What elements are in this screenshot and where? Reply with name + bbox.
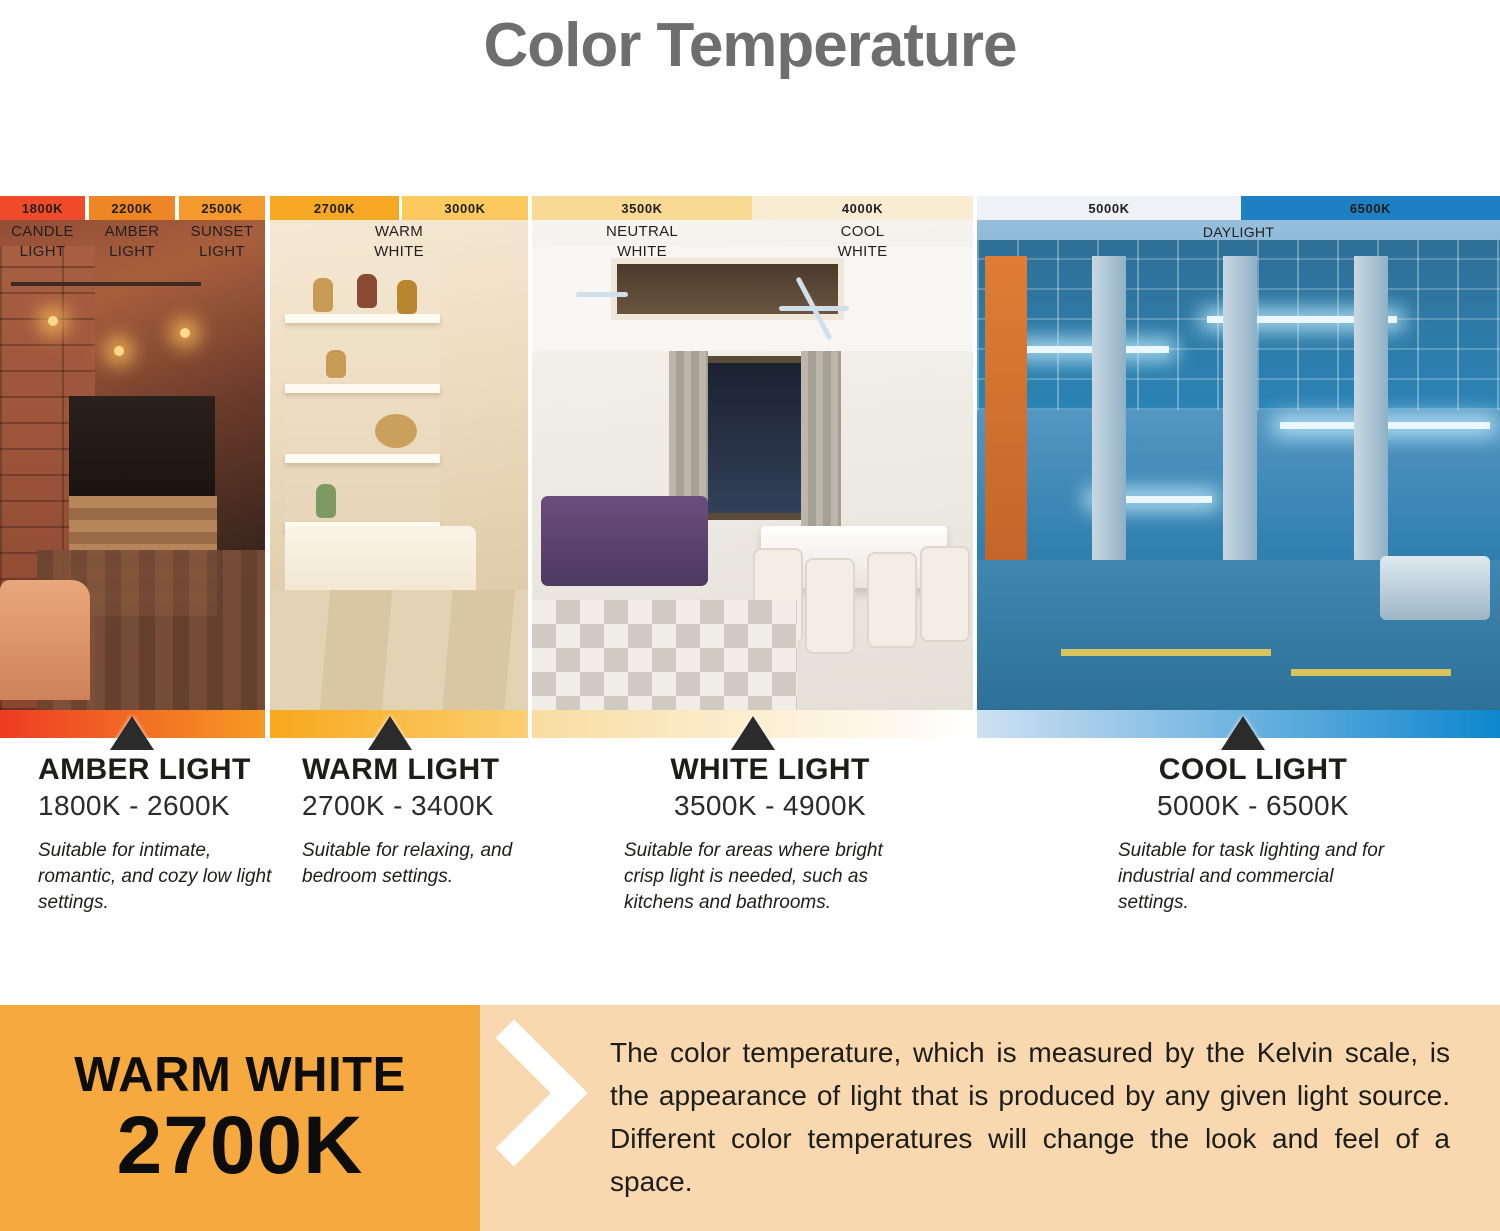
legend-name: WARM LIGHT <box>302 752 532 788</box>
kelvin-name: DAYLIGHT <box>977 222 1500 242</box>
pointer-arrow-cool <box>1221 716 1265 750</box>
kelvin-names-white: NEUTRALWHITE COOLWHITE <box>532 222 973 262</box>
kelvin-cell: 3000K <box>402 196 528 220</box>
kelvin-cell: 3500K <box>532 196 752 220</box>
page-title: Color Temperature <box>0 0 1500 90</box>
kelvin-header-white: 3500K 4000K <box>532 196 973 220</box>
legend: AMBER LIGHT 1800K - 2600K Suitable for i… <box>0 752 1500 942</box>
kelvin-names-daylight: DAYLIGHT <box>977 222 1500 242</box>
banner-kelvin: 2700K <box>117 1103 364 1189</box>
panel-white-photo <box>532 196 973 710</box>
panel-warm[interactable]: 2700K 3000K WARMWHITE <box>270 196 528 710</box>
pointer-arrow-white <box>731 716 775 750</box>
panel-amber-photo <box>0 196 265 710</box>
kelvin-names-warm: WARMWHITE <box>270 222 528 262</box>
kelvin-name: CANDLELIGHT <box>0 222 85 262</box>
kelvin-cell: 6500K <box>1241 196 1500 220</box>
legend-name: AMBER LIGHT <box>38 752 278 788</box>
legend-desc: Suitable for relaxing, and bedroom setti… <box>302 838 532 890</box>
legend-range: 2700K - 3400K <box>302 788 532 824</box>
kelvin-name: AMBERLIGHT <box>89 222 175 262</box>
kelvin-cell: 1800K <box>0 196 85 220</box>
kelvin-name: NEUTRALWHITE <box>532 222 752 262</box>
panel-daylight-photo <box>977 196 1500 710</box>
panel-amber[interactable]: 1800K 2200K 2500K CANDLELIGHT AMBERLIGHT… <box>0 196 265 710</box>
legend-item-cool[interactable]: COOL LIGHT 5000K - 6500K Suitable for ta… <box>1118 752 1388 916</box>
legend-range: 3500K - 4900K <box>624 788 916 824</box>
legend-name: COOL LIGHT <box>1118 752 1388 788</box>
kelvin-cell: 2700K <box>270 196 399 220</box>
legend-range: 5000K - 6500K <box>1118 788 1388 824</box>
summary-banner: WARM WHITE 2700K The color temperature, … <box>0 1005 1500 1231</box>
legend-item-amber[interactable]: AMBER LIGHT 1800K - 2600K Suitable for i… <box>38 752 278 916</box>
legend-range: 1800K - 2600K <box>38 788 278 824</box>
chevron-right-icon <box>480 1005 600 1231</box>
legend-desc: Suitable for intimate, romantic, and coz… <box>38 838 278 916</box>
pointer-arrow-amber <box>110 716 154 750</box>
kelvin-names-amber: CANDLELIGHT AMBERLIGHT SUNSETLIGHT <box>0 222 265 262</box>
panel-white[interactable]: 3500K 4000K NEUTRALWHITE COOLWHITE <box>532 196 973 710</box>
banner-label: WARM WHITE <box>74 1047 406 1103</box>
banner-kelvin-block: WARM WHITE 2700K <box>0 1005 480 1231</box>
legend-name: WHITE LIGHT <box>624 752 916 788</box>
legend-desc: Suitable for areas where bright crisp li… <box>624 838 916 916</box>
panel-daylight[interactable]: 5000K 6500K DAYLIGHT <box>977 196 1500 710</box>
kelvin-header-warm: 2700K 3000K <box>270 196 528 220</box>
pointer-arrow-warm <box>368 716 412 750</box>
kelvin-name: SUNSETLIGHT <box>179 222 265 262</box>
banner-description-block: The color temperature, which is measured… <box>480 1005 1500 1231</box>
kelvin-header-amber: 1800K 2200K 2500K <box>0 196 265 220</box>
kelvin-cell: 2500K <box>179 196 265 220</box>
kelvin-cell: 5000K <box>977 196 1241 220</box>
color-temperature-strip: 1800K 2200K 2500K CANDLELIGHT AMBERLIGHT… <box>0 196 1500 710</box>
kelvin-cell: 4000K <box>752 196 973 220</box>
kelvin-name: WARMWHITE <box>270 222 528 262</box>
legend-item-white[interactable]: WHITE LIGHT 3500K - 4900K Suitable for a… <box>624 752 916 916</box>
kelvin-cell: 2200K <box>89 196 175 220</box>
kelvin-name: COOLWHITE <box>752 222 973 262</box>
banner-paragraph: The color temperature, which is measured… <box>610 1031 1450 1203</box>
legend-item-warm[interactable]: WARM LIGHT 2700K - 3400K Suitable for re… <box>302 752 532 890</box>
kelvin-header-daylight: 5000K 6500K <box>977 196 1500 220</box>
panel-warm-photo <box>270 196 528 710</box>
legend-desc: Suitable for task lighting and for indus… <box>1118 838 1388 916</box>
